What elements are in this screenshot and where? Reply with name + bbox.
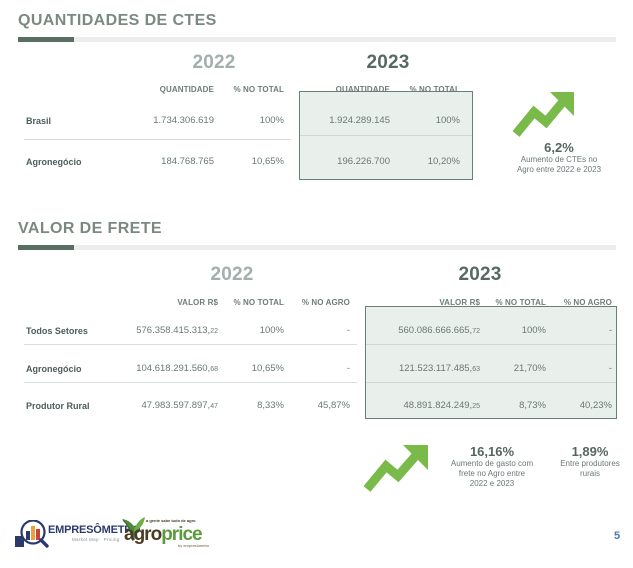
table-cell-todos-2023-pct-total: 100% — [484, 325, 546, 336]
stat-caption-line1: Entre produtores — [547, 459, 633, 469]
logo-agroprice-byline: by empresômetro — [178, 543, 209, 548]
highlight-row-separator-1 — [366, 344, 616, 345]
table-cell-todos-2022-pct-total: 100% — [222, 325, 284, 336]
section-header-quantidades: QUANTIDADES DE CTES — [18, 12, 616, 42]
table-cell-brasil-2022-quantidade: 1.734.306.619 — [124, 115, 214, 126]
table-row-divider-frete-1 — [24, 344, 357, 345]
highlight-row-separator-2 — [366, 382, 616, 383]
table-row-label-produtor-rural: Produtor Rural — [26, 401, 90, 411]
table-cell-produtor-2022-pct-agro: 45,87% — [288, 400, 350, 411]
table-row-label-agronegocio-f: Agronegócio — [26, 364, 82, 374]
highlight-row-separator — [300, 135, 472, 136]
table-cell-agro-2022-pct: 10,65% — [218, 156, 284, 167]
stat-caption-line1: Aumento de gasto com — [432, 459, 552, 469]
table-row-label-brasil: Brasil — [26, 116, 51, 126]
stat-caption-line2: Agro entre 2022 e 2023 — [495, 165, 623, 175]
page-number: 5 — [614, 530, 620, 542]
stat-caption-cte-growth: Aumento de CTEs no Agro entre 2022 e 202… — [495, 155, 623, 175]
colhead-quantidade-2022: QUANTIDADE — [124, 85, 214, 94]
table-cell-brasil-2022-pct: 100% — [218, 115, 284, 126]
table-row-divider-quantidades — [24, 139, 291, 140]
table-cell-agro-2023-valor: 121.523.117.485,63 — [372, 363, 480, 374]
table-cell-produtor-2022-pct-total: 8,33% — [222, 400, 284, 411]
logo-agroprice-tagline-top: a gente sabe tudo de agro — [146, 518, 196, 523]
table-cell-agro-2023-quantidade: 196.226.700 — [300, 156, 390, 167]
colhead-pct-total-frete-2022: % NO TOTAL — [222, 298, 284, 307]
page-title-quantidades: QUANTIDADES DE CTES — [18, 12, 616, 30]
trending-up-arrow-icon-quantidades — [512, 90, 578, 138]
table-cell-agro-2022-quantidade: 184.768.765 — [124, 156, 214, 167]
table-cell-produtor-2022-valor: 47.983.597.897,47 — [110, 400, 218, 411]
stat-caption-produtores-rurais: Entre produtores rurais — [547, 459, 633, 479]
colhead-valor-2022: VALOR R$ — [118, 298, 218, 307]
year-label-2022-quantidades: 2022 — [174, 52, 254, 74]
table-cell-produtor-2023-valor: 48.891.824.249,25 — [372, 400, 480, 411]
logo-agroprice-agro: agro — [124, 524, 161, 545]
table-row-label-agronegocio-q: Agronegócio — [26, 157, 82, 167]
table-cell-brasil-2023-pct: 100% — [394, 115, 460, 126]
table-cell-todos-2022-pct-agro: - — [288, 325, 350, 336]
table-cell-agro-2022-pct-total: 10,65% — [222, 363, 284, 374]
stat-caption-frete-growth: Aumento de gasto com frete no Agro entre… — [432, 459, 552, 489]
stat-value-frete-growth: 16,16% — [432, 444, 552, 459]
table-cell-agro-2023-pct-total: 21,70% — [484, 363, 546, 374]
table-cell-agro-2022-valor: 104.618.291.560,68 — [110, 363, 218, 374]
table-cell-todos-2023-valor: 560.086.666.665,72 — [372, 325, 480, 336]
table-cell-todos-2022-valor: 576.358.415.313,22 — [110, 325, 218, 336]
table-cell-brasil-2023-quantidade: 1.924.289.145 — [300, 115, 390, 126]
table-cell-agro-2023-pct-agro: - — [550, 363, 612, 374]
stat-value-produtores-rurais: 1,89% — [547, 444, 633, 459]
table-row-label-todos-setores: Todos Setores — [26, 326, 88, 336]
slide-page: QUANTIDADES DE CTES 2022 2023 QUANTIDADE… — [0, 0, 633, 568]
page-title-valor-frete: VALOR DE FRETE — [18, 220, 616, 238]
stat-caption-line2: rurais — [547, 469, 633, 479]
section-header-valor-frete: VALOR DE FRETE — [18, 220, 616, 250]
stat-caption-line1: Aumento de CTEs no — [495, 155, 623, 165]
trending-up-arrow-icon-frete — [362, 443, 432, 493]
stat-caption-line3: 2022 e 2023 — [432, 479, 552, 489]
year-label-2023-quantidades: 2023 — [348, 52, 428, 74]
table-cell-agro-2023-pct: 10,20% — [394, 156, 460, 167]
stat-caption-line2: frete no Agro entre — [432, 469, 552, 479]
year-label-2023-frete: 2023 — [440, 264, 520, 286]
colhead-pct-agro-2022: % NO AGRO — [288, 298, 350, 307]
table-cell-todos-2023-pct-agro: - — [550, 325, 612, 336]
logo-empresometro-tagline: Market Map · Pricing — [72, 537, 120, 542]
section-divider-valor-frete — [18, 245, 616, 250]
year-label-2022-frete: 2022 — [192, 264, 272, 286]
stat-value-cte-growth: 6,2% — [495, 140, 623, 155]
table-row-divider-frete-2 — [24, 382, 357, 383]
table-cell-agro-2022-pct-agro: - — [288, 363, 350, 374]
colhead-pct-total-2022: % NO TOTAL — [218, 85, 284, 94]
table-cell-produtor-2023-pct-total: 8,73% — [484, 400, 546, 411]
table-cell-produtor-2023-pct-agro: 40,23% — [550, 400, 612, 411]
section-divider-quantidades — [18, 37, 616, 42]
logo-agroprice-price: price — [161, 524, 201, 545]
